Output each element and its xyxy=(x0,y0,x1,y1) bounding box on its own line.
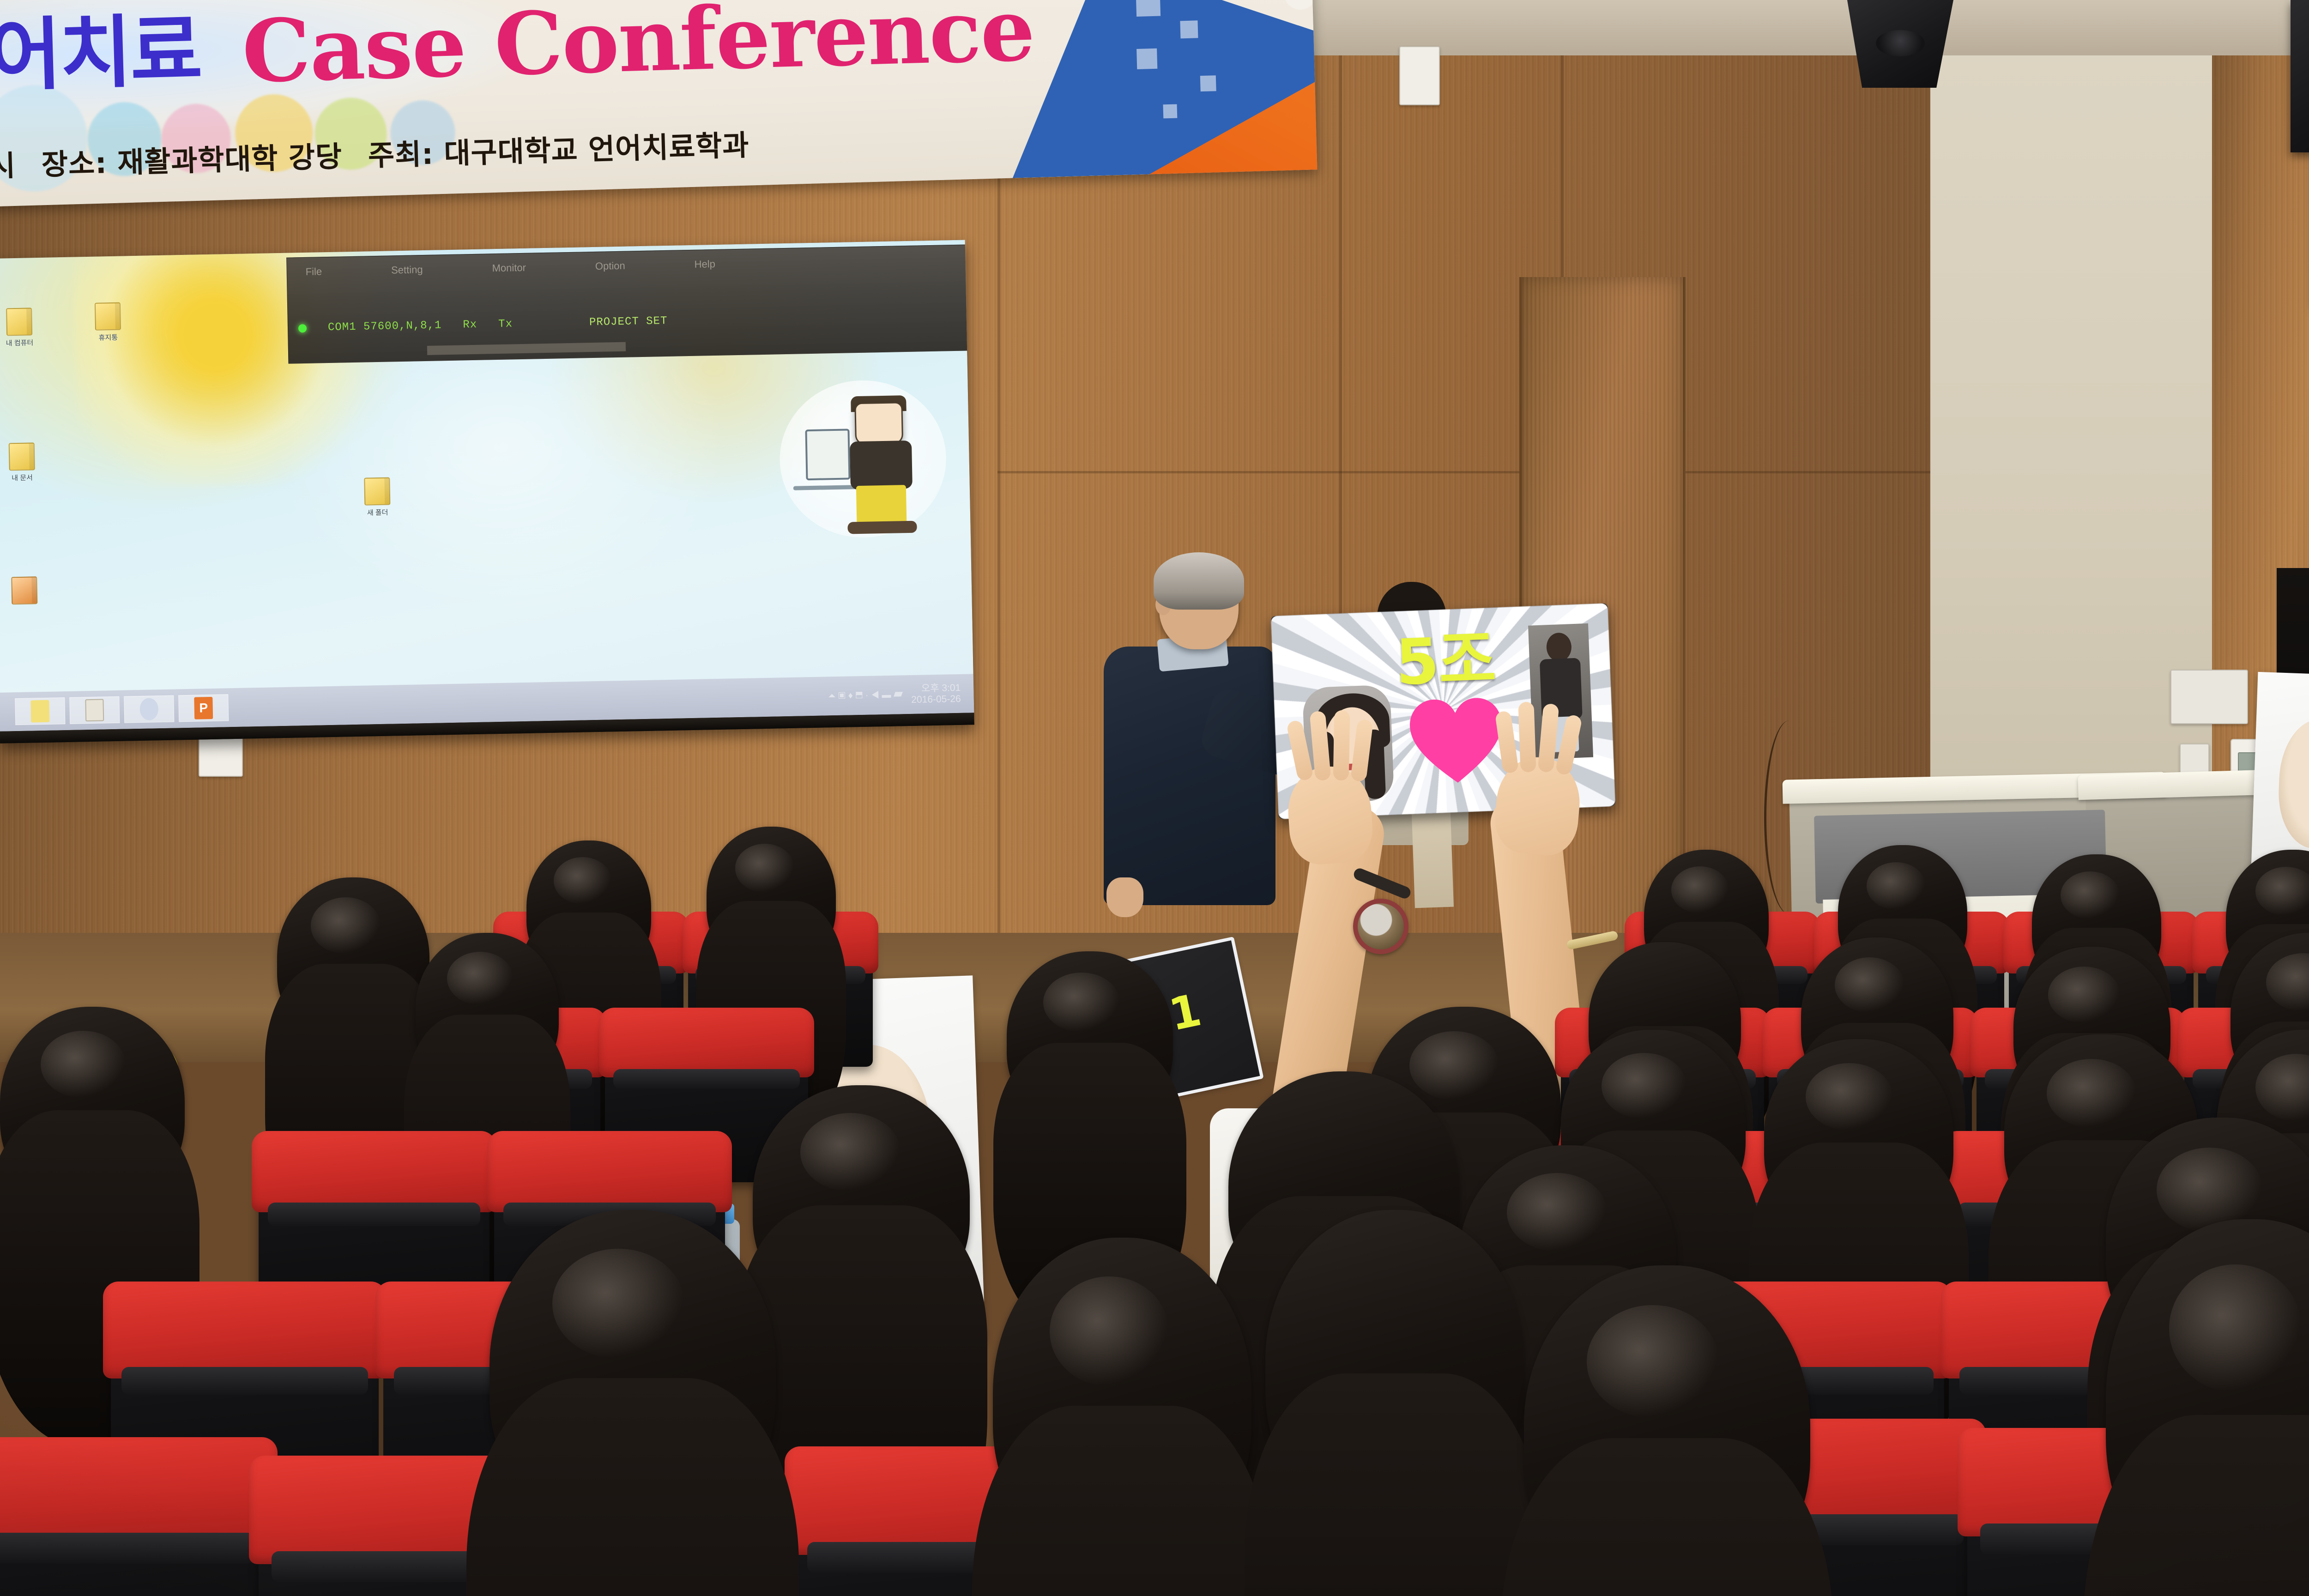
suit-jacket xyxy=(1104,647,1275,905)
light-switch-plate[interactable] xyxy=(2170,670,2248,724)
taskbar-item-media[interactable] xyxy=(124,695,174,723)
mascot-legs xyxy=(856,485,907,526)
desktop-icon-label: 휴지통 xyxy=(91,333,125,342)
menu-item-help[interactable]: Help xyxy=(694,258,715,271)
banner-title-english: Case Conference xyxy=(241,0,1035,102)
menu-item-monitor[interactable]: Monitor xyxy=(492,262,526,274)
desktop-icon-label xyxy=(8,608,42,617)
ceiling-speaker-right xyxy=(2291,0,2309,152)
taskbar-item-powerpoint[interactable]: P xyxy=(178,694,229,722)
media-window-icon xyxy=(139,698,158,720)
banner-square-deco xyxy=(1136,0,1161,17)
serial-terminal-window[interactable]: File Setting Monitor Option Help COM1 57… xyxy=(286,244,972,363)
desktop-icon-label: 내 컴퓨터 xyxy=(2,339,36,348)
mascot-monitor-icon xyxy=(805,429,850,480)
folder-icon xyxy=(95,302,121,331)
projected-desktop: 내 컴퓨터 휴지통 내 문서 새 폴더 File xyxy=(0,240,974,731)
audience-head xyxy=(416,933,559,1090)
audience-head xyxy=(707,827,836,970)
heart-icon xyxy=(1406,695,1506,786)
desktop-icon[interactable]: 새 폴더 xyxy=(360,477,395,517)
presenter-gray-hair xyxy=(1154,552,1244,610)
banner-place: 장소: 재활과학대학 강당 xyxy=(41,139,343,181)
clock-time: 오후 3:01 xyxy=(921,683,961,694)
taskbar-clock[interactable]: 오후 3:01 2016-05-26 xyxy=(911,683,961,706)
seat[interactable] xyxy=(0,1450,268,1596)
pc-mascot-illustration xyxy=(778,379,947,539)
audience-head-front xyxy=(490,1210,776,1533)
folder-icon xyxy=(9,442,35,471)
app-status-bar: COM1 57600,N,8,1 Rx Tx PROJECT SET xyxy=(298,309,961,335)
banner-square-deco xyxy=(1163,104,1177,119)
auditorium-scene: 언어치료 Case Conference 후 5시장소: 재활과학대학 강당주최… xyxy=(0,0,2309,1596)
clock-date: 2016-05-26 xyxy=(911,694,961,705)
desktop-icon[interactable]: 휴지통 xyxy=(91,302,126,342)
projection-screen-frame: 내 컴퓨터 휴지통 내 문서 새 폴더 File xyxy=(0,240,974,743)
tx-indicator: Tx xyxy=(498,318,513,331)
banner-square-deco xyxy=(1136,48,1157,69)
mascot-head xyxy=(854,402,903,445)
desktop-icon[interactable]: 내 컴퓨터 xyxy=(2,308,37,348)
desktop-icon-label: 내 문서 xyxy=(5,474,39,483)
desktop-icon[interactable]: 내 문서 xyxy=(5,442,40,483)
audience-head-front xyxy=(993,1238,1251,1561)
presenter-man-in-suit xyxy=(1099,559,1293,956)
sign-support-stick xyxy=(1411,801,1454,908)
audience-head-front xyxy=(1265,1210,1524,1524)
photo2-head xyxy=(1546,632,1572,662)
banner-square-deco xyxy=(1180,20,1198,38)
rx-indicator: Rx xyxy=(463,319,477,332)
com-port-status: COM1 57600,N,8,1 xyxy=(328,319,442,334)
connection-status-led-icon xyxy=(298,324,307,332)
menu-item-option[interactable]: Option xyxy=(595,260,625,272)
project-set-button[interactable]: PROJECT SET xyxy=(589,315,668,329)
powerpoint-icon: P xyxy=(194,697,213,719)
wall-panel-seam xyxy=(997,471,1930,473)
finger xyxy=(1518,701,1536,772)
audience-head xyxy=(753,1085,970,1316)
mascot-body xyxy=(850,441,913,490)
taskbar-buttons[interactable]: P xyxy=(0,694,229,725)
audience-head xyxy=(1764,1039,1953,1238)
taskbar-item-folder[interactable] xyxy=(15,697,65,725)
audience-head-front xyxy=(1524,1265,1810,1596)
wall-outlet-plate-left[interactable] xyxy=(1399,46,1440,105)
folder-icon xyxy=(364,477,390,505)
audience-head xyxy=(1007,951,1173,1127)
team-number-label: 5조 xyxy=(1394,628,1496,695)
folder-icon xyxy=(6,308,32,336)
desktop-icon[interactable] xyxy=(7,576,42,617)
banner-square-deco xyxy=(1200,75,1216,91)
audience-head xyxy=(277,877,429,1044)
system-tray[interactable]: ⏶ ▣ ♦ ⬒ · ◀ ▬ ▰ 오후 3:01 2016-05-26 xyxy=(828,682,974,707)
ceiling-speaker-left xyxy=(1847,0,1953,88)
sign-photo-fullbody xyxy=(1528,623,1593,760)
presenter-hand xyxy=(1106,877,1143,917)
banner-title-korean: 언어치료 xyxy=(0,0,202,108)
taskbar-item-document[interactable] xyxy=(69,696,120,724)
poster-face-photo xyxy=(2277,718,2309,850)
menu-item-setting[interactable]: Setting xyxy=(391,264,423,276)
app-progress-bar xyxy=(427,342,626,355)
tray-icons[interactable]: ⏶ ▣ ♦ ⬒ · ◀ ▬ ▰ xyxy=(828,689,903,701)
folder-window-icon xyxy=(30,700,49,723)
desktop-icon-label: 새 폴더 xyxy=(361,508,395,517)
menu-item-file[interactable]: File xyxy=(305,266,322,278)
audience-head xyxy=(0,1007,185,1205)
audience-head xyxy=(526,840,651,979)
wristwatch xyxy=(1353,899,1408,954)
wall-panel-seam xyxy=(997,55,1000,970)
folder-icon xyxy=(11,576,37,605)
app-menu-bar[interactable]: File Setting Monitor Option Help xyxy=(305,254,960,278)
mascot-shoes xyxy=(847,521,917,534)
document-window-icon xyxy=(85,699,104,721)
finger xyxy=(1333,710,1350,781)
banner-time: 후 5시 xyxy=(0,149,16,185)
speaker-cone-icon xyxy=(1876,30,1925,56)
